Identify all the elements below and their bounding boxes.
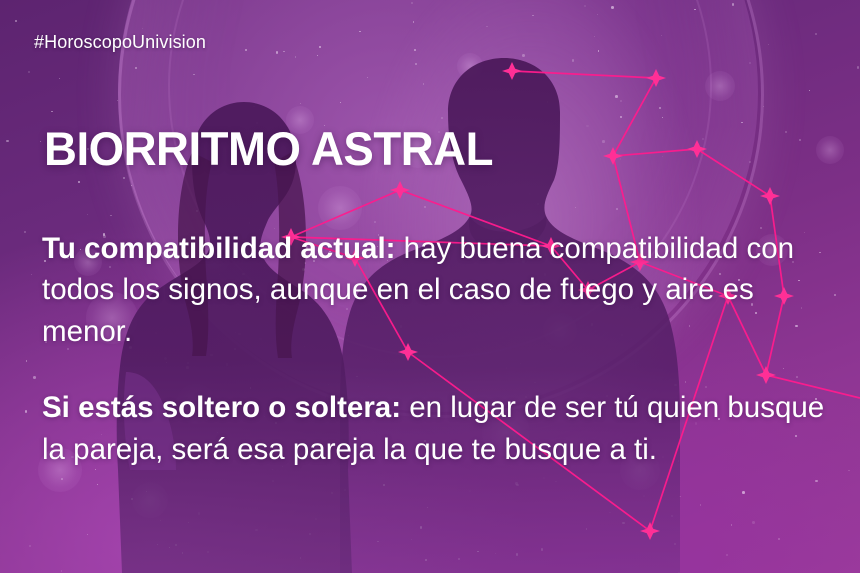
hashtag-label: #HoroscopoUnivision bbox=[34, 32, 206, 53]
paragraph-single: Si estás soltero o soltera: en lugar de … bbox=[42, 387, 842, 470]
horoscope-card: #HoroscopoUnivision BIORRITMO ASTRAL Tu … bbox=[0, 0, 860, 573]
paragraph-compatibility: Tu compatibilidad actual: hay buena comp… bbox=[42, 228, 842, 353]
paragraph-lead: Si estás soltero o soltera: bbox=[42, 391, 401, 424]
text-content: #HoroscopoUnivision BIORRITMO ASTRAL Tu … bbox=[0, 0, 860, 573]
paragraph-lead: Tu compatibilidad actual: bbox=[42, 232, 395, 265]
body-copy: Tu compatibilidad actual: hay buena comp… bbox=[42, 198, 842, 500]
page-title: BIORRITMO ASTRAL bbox=[44, 124, 493, 173]
